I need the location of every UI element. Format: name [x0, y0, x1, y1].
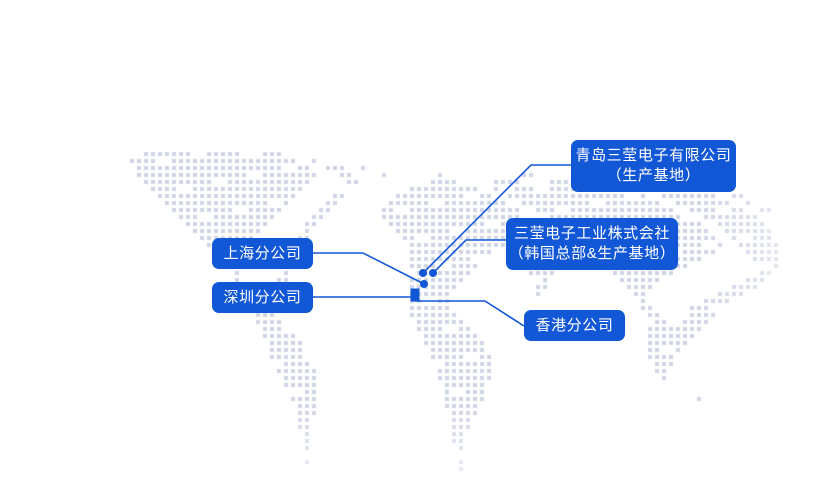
node-shanghai [420, 280, 428, 288]
connector-layer [0, 0, 824, 480]
connector-korea [433, 240, 506, 273]
connector-shanghai [313, 253, 424, 284]
node-korea [429, 269, 437, 277]
label-qingdao[interactable]: 青岛三莹电子有限公司 （生产基地） [571, 140, 736, 192]
connector-hongkong [415, 301, 524, 326]
label-shenzhen-branch[interactable]: 深圳分公司 [212, 282, 313, 313]
label-shanghai-branch[interactable]: 上海分公司 [212, 238, 313, 269]
label-korea-hq[interactable]: 三莹电子工业株式会社 （韩国总部&生产基地） [506, 218, 678, 270]
label-hongkong-branch[interactable]: 香港分公司 [524, 310, 625, 341]
map-node-markers [411, 269, 438, 302]
node-qingdao [419, 269, 427, 277]
node-hongkong [411, 293, 420, 302]
world-map-infographic: 青岛三莹电子有限公司 （生产基地） 三莹电子工业株式会社 （韩国总部&生产基地）… [0, 0, 824, 480]
